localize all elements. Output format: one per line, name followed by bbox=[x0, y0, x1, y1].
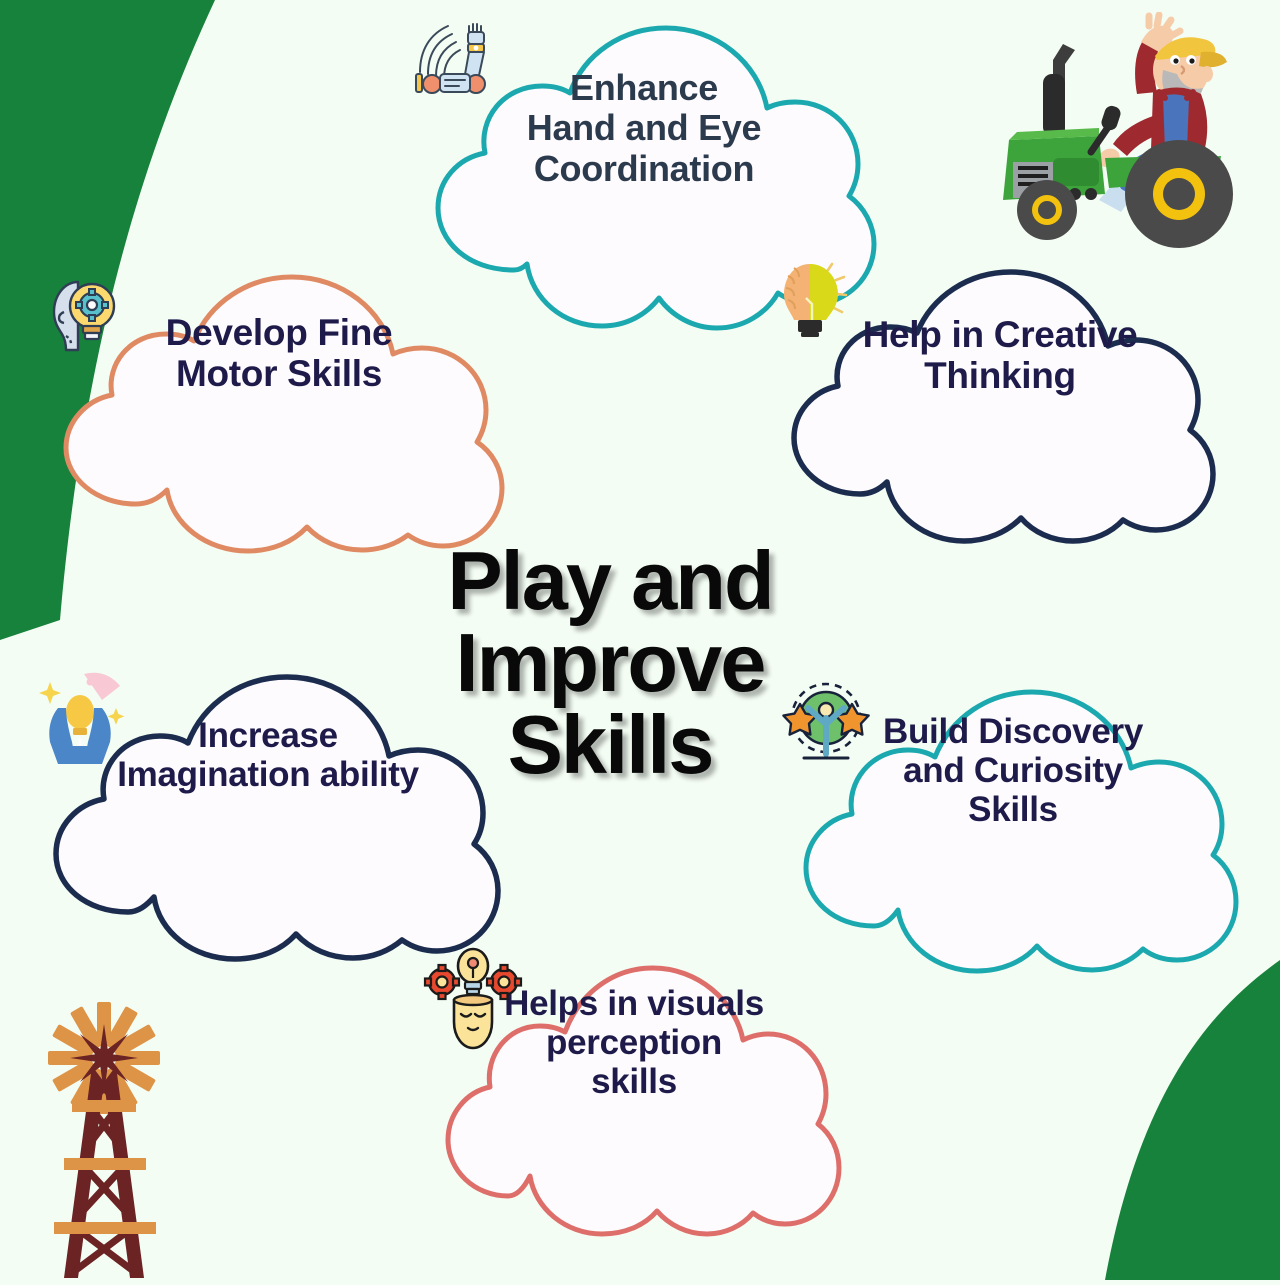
cloud-label: Helps in visuals perception skills bbox=[504, 984, 764, 1102]
farm-windmill-illustration bbox=[26, 996, 206, 1280]
farmer-on-tractor-illustration bbox=[985, 12, 1265, 262]
cloud-label: Help in Creative Thinking bbox=[863, 314, 1138, 397]
page-title: Play and Improve Skills bbox=[400, 540, 820, 786]
cloud-label: Enhance Hand and Eye Coordination bbox=[527, 68, 761, 189]
cloud-creative-thinking[interactable]: Help in Creative Thinking bbox=[766, 258, 1234, 546]
cloud-fine-motor-skills[interactable]: Develop Fine Motor Skills bbox=[40, 272, 518, 554]
cloud-label: Increase Imagination ability bbox=[117, 716, 419, 794]
cloud-label: Develop Fine Motor Skills bbox=[166, 312, 393, 395]
infographic-canvas: Enhance Hand and Eye Coordination bbox=[0, 0, 1280, 1280]
cloud-visual-perception[interactable]: Helps in visuals perception skills bbox=[424, 950, 844, 1250]
cloud-label: Build Discovery and Curiosity Skills bbox=[883, 712, 1143, 830]
green-corner-swoosh-bottom-right bbox=[1105, 960, 1280, 1280]
cloud-discovery-curiosity[interactable]: Build Discovery and Curiosity Skills bbox=[778, 678, 1248, 978]
